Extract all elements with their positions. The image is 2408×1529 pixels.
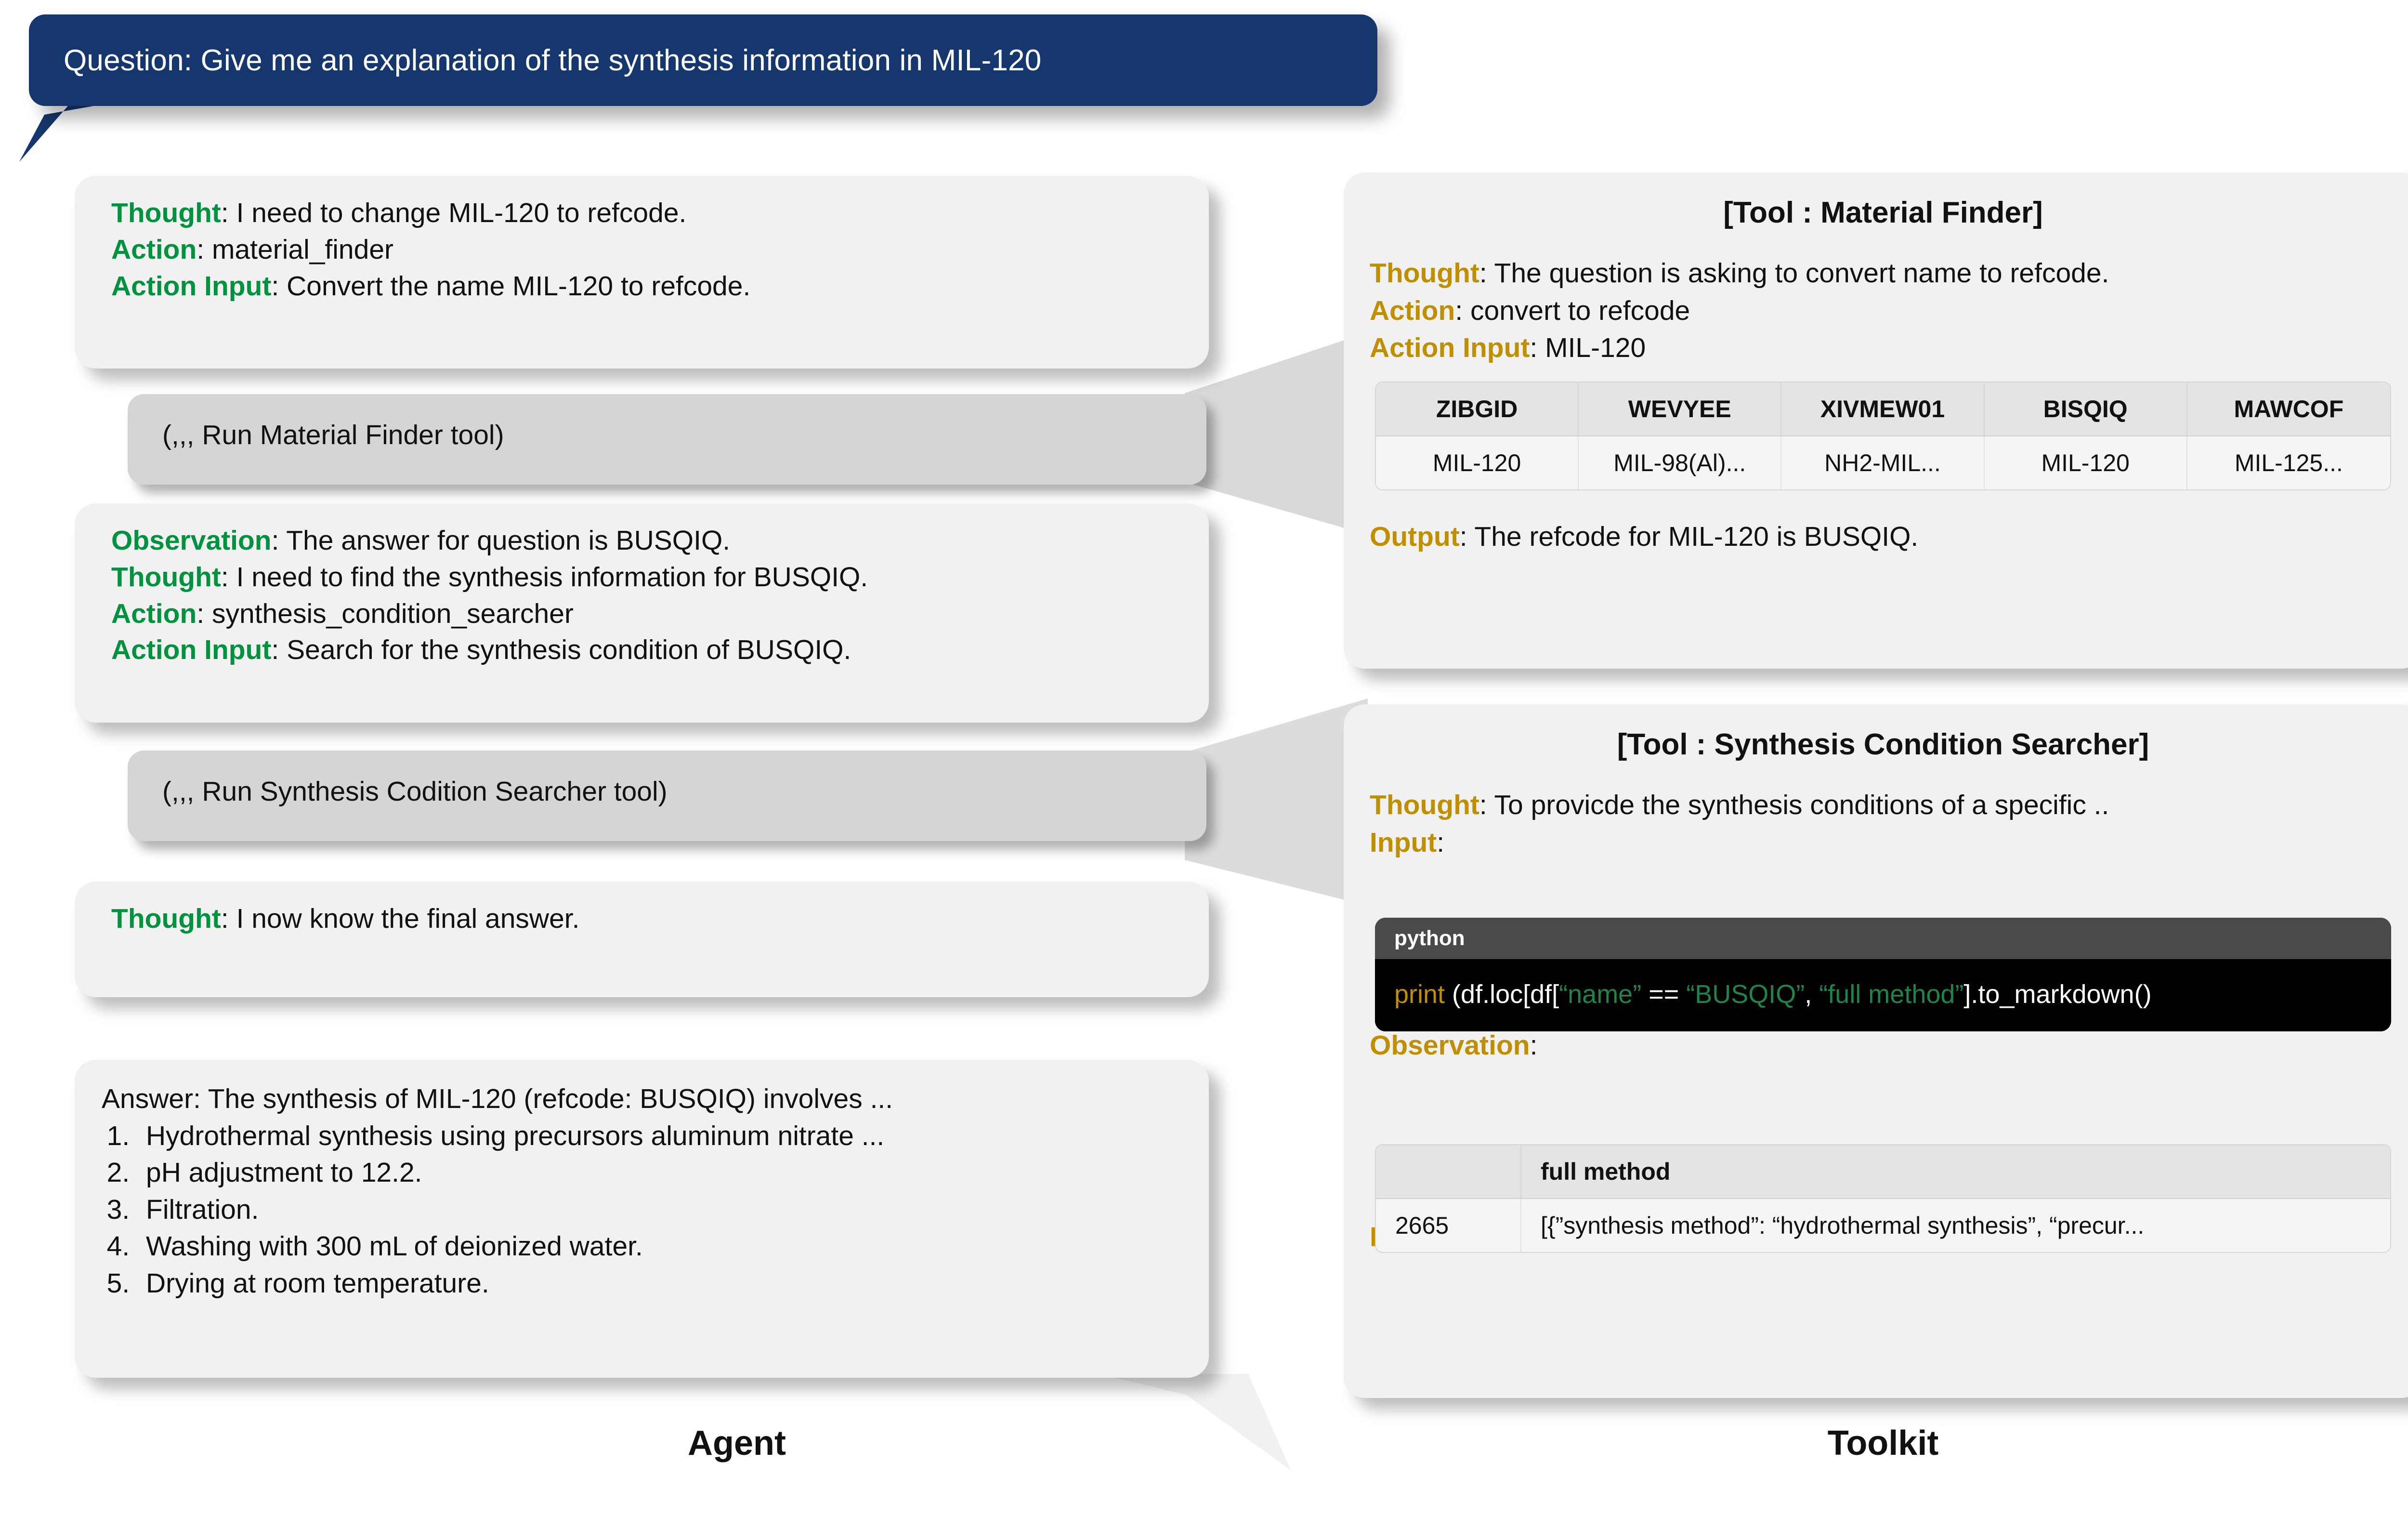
output-label: Output [1370,521,1460,552]
tool1-action-line: Action: convert to refcode [1344,292,2408,330]
run-tool-2-text: (,,, Run Synthesis Codition Searcher too… [128,751,1206,807]
code-token-mid2: == [1641,980,1686,1009]
thought-text: : I need to find the synthesis informati… [221,562,868,593]
code-token-print: print [1394,980,1445,1009]
cell: MIL-125... [2187,436,2390,489]
run-tool-1-text: (,,, Run Material Finder tool) [128,394,1206,451]
code-token-mid3: , [1805,980,1819,1009]
input-colon: : [1437,827,1444,858]
action-text: : synthesis_condition_searcher [196,598,574,629]
action-text: : convert to refcode [1455,295,1690,326]
observation-label: Observation [111,525,272,556]
agent-answer-card: Answer: The synthesis of MIL-120 (refcod… [75,1060,1209,1378]
col-header: WEVYEE [1579,382,1781,436]
cell: NH2-MIL... [1781,436,1984,489]
output-text: : The refcode for MIL-120 is BUSQIQ. [1460,521,1919,552]
thought-label: Thought [1370,790,1479,820]
agent-step2-action-input-line: Action Input: Search for the synthesis c… [111,632,1209,669]
action-input-text: : Search for the synthesis condition of … [271,634,851,665]
list-item: pH adjustment to 12.2. [137,1154,1209,1191]
list-item: Drying at room temperature. [137,1265,1209,1302]
thought-label: Thought [111,562,221,593]
run-material-finder-tool-bubble[interactable]: (,,, Run Material Finder tool) [128,394,1206,485]
toolkit-column-label: Toolkit [1714,1424,2052,1463]
observation-text: : The answer for question is BUSQIQ. [272,525,731,556]
agent-step1-action-input-line: Action Input: Convert the name MIL-120 t… [111,268,1209,305]
action-input-label: Action Input [111,634,271,665]
table-row: MIL-120 MIL-98(Al)... NH2-MIL... MIL-120… [1376,436,2390,489]
col-header: ZIBGID [1376,382,1579,436]
agent-step1-thought-line: Thought: I need to change MIL-120 to ref… [111,195,1209,232]
observation-colon: : [1530,1030,1538,1061]
cell: MIL-98(Al)... [1579,436,1781,489]
list-item: Filtration. [137,1191,1209,1228]
table-header-row: full method [1376,1145,2390,1199]
table: ZIBGID WEVYEE XIVMEW01 BISQIQ MAWCOF MIL… [1375,382,2391,490]
col-header: XIVMEW01 [1781,382,1984,436]
tool-2-title: [Tool : Synthesis Condition Searcher] [1344,704,2408,762]
code-language-label: python [1375,918,2391,959]
cell: MIL-120 [1985,436,2187,489]
agent-step3-thought-line: Thought: I now know the final answer. [111,901,1209,937]
code-token-str-fullmethod: “full method” [1819,980,1963,1009]
answer-step-list: Hydrothermal synthesis using precursors … [75,1118,1209,1302]
action-label: Action [111,234,196,265]
question-text: Question: Give me an explanation of the … [29,43,1042,78]
agent-column-label: Agent [592,1424,881,1463]
agent-step2-action-line: Action: synthesis_condition_searcher [111,596,1209,633]
agent-step2-thought-line: Thought: I need to find the synthesis in… [111,559,1209,596]
thought-text: : I need to change MIL-120 to refcode. [221,198,686,228]
question-bubble: Question: Give me an explanation of the … [29,14,1377,106]
tool-1-title: [Tool : Material Finder] [1344,172,2408,230]
thought-text: : The question is asking to convert name… [1479,258,2109,289]
material-finder-results-table: ZIBGID WEVYEE XIVMEW01 BISQIQ MAWCOF MIL… [1375,382,2391,490]
action-input-text: : MIL-120 [1530,332,1646,363]
action-input-label: Action Input [1370,332,1530,363]
input-label: Input [1370,827,1437,858]
observation-label: Observation [1370,1030,1530,1061]
answer-header: Answer: The synthesis of MIL-120 (refcod… [75,1060,1209,1115]
thought-label: Thought [1370,258,1479,289]
tool2-observation-line: Observation: [1344,1027,2408,1065]
thought-label: Thought [111,903,221,934]
action-text: : material_finder [196,234,393,265]
action-label: Action [1370,295,1455,326]
col-header-index [1376,1145,1521,1199]
agent-step2-observation-line: Observation: The answer for question is … [111,523,1209,559]
action-input-label: Action Input [111,271,271,302]
cell: [{”synthesis method”: “hydrothermal synt… [1521,1199,2390,1252]
agent-step-3-card: Thought: I now know the final answer. [75,882,1209,997]
tool-synthesis-condition-searcher-card: [Tool : Synthesis Condition Searcher] Th… [1344,704,2408,1398]
python-code-block[interactable]: python print (df.loc[df[“name” == “BUSQI… [1375,918,2391,1031]
tool1-output-line: Output: The refcode for MIL-120 is BUSQI… [1344,518,2408,556]
agent-step-2-card: Observation: The answer for question is … [75,503,1209,723]
code-token-str-name: “name” [1559,980,1641,1009]
tool1-action-input-line: Action Input: MIL-120 [1344,330,2408,367]
list-item: Hydrothermal synthesis using precursors … [137,1118,1209,1154]
table-row: 2665 [{”synthesis method”: “hydrothermal… [1376,1199,2390,1252]
cell: MIL-120 [1376,436,1579,489]
thought-text: : I now know the final answer. [221,903,580,934]
code-token-mid4: ].to_markdown() [1963,980,2151,1009]
run-tool-2-connector-tail [1185,699,1368,906]
cell-index: 2665 [1376,1199,1521,1252]
code-token-mid1: (df.loc[df[ [1445,980,1559,1009]
answer-bubble-tail [1098,1374,1291,1470]
table-header-row: ZIBGID WEVYEE XIVMEW01 BISQIQ MAWCOF [1376,382,2390,436]
col-header: full method [1521,1145,2390,1199]
action-input-text: : Convert the name MIL-120 to refcode. [271,271,750,302]
agent-step-1-card: Thought: I need to change MIL-120 to ref… [75,176,1209,369]
col-header: BISQIQ [1985,382,2187,436]
run-tool-1-connector-tail [1185,332,1368,535]
code-token-str-busqiq: “BUSQIQ” [1686,980,1805,1009]
code-line: print (df.loc[df[“name” == “BUSQIQ”, “fu… [1375,959,2391,1031]
col-header: MAWCOF [2187,382,2390,436]
tool2-thought-line: Thought: To provicde the synthesis condi… [1344,787,2408,824]
tool2-input-line: Input: [1344,824,2408,862]
tool1-thought-line: Thought: The question is asking to conve… [1344,255,2408,292]
list-item: Washing with 300 mL of deionized water. [137,1228,1209,1265]
table: full method 2665 [{”synthesis method”: “… [1375,1144,2391,1253]
run-synthesis-condition-searcher-tool-bubble[interactable]: (,,, Run Synthesis Codition Searcher too… [128,751,1206,841]
observation-results-table: full method 2665 [{”synthesis method”: “… [1375,1144,2391,1253]
agent-step1-action-line: Action: material_finder [111,232,1209,268]
thought-text: : To provicde the synthesis conditions o… [1479,790,2109,820]
action-label: Action [111,598,196,629]
thought-label: Thought [111,198,221,228]
